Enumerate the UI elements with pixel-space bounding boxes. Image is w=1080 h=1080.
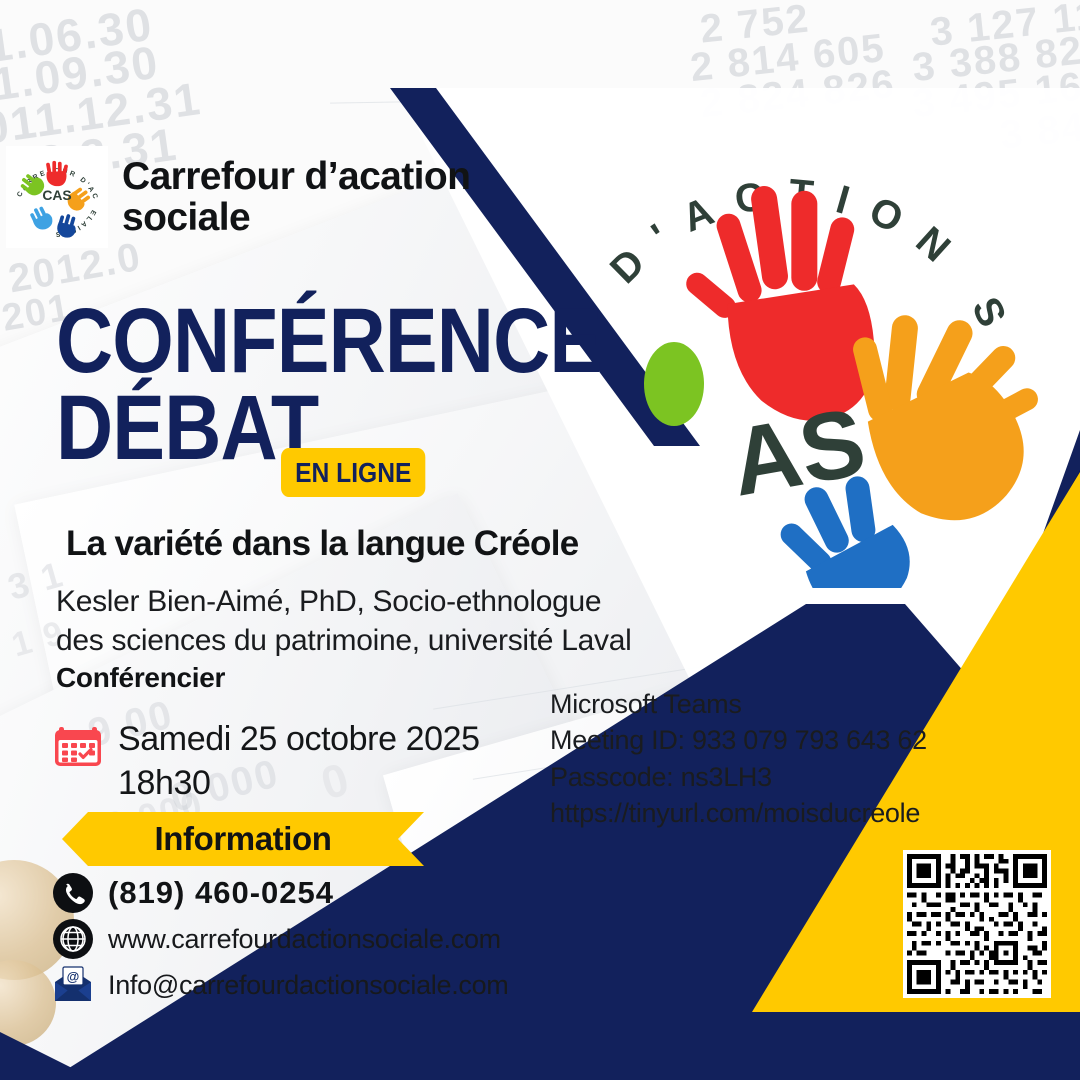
svg-text:@: @ bbox=[67, 969, 80, 984]
meeting-url[interactable]: https://tinyurl.com/moisducreole bbox=[550, 795, 927, 831]
speaker-affiliation-line: des sciences du patrimoine, université L… bbox=[56, 621, 631, 660]
phone-number: (819) 460-0254 bbox=[108, 875, 334, 911]
qr-code[interactable] bbox=[903, 850, 1051, 998]
headline-line-1: CONFÉRENCE bbox=[56, 298, 601, 385]
brand-header: CARREFOUR D'ACTION ELAICOS bbox=[6, 146, 492, 248]
meeting-platform: Microsoft Teams bbox=[550, 686, 927, 722]
globe-icon bbox=[52, 918, 94, 960]
event-date-text: Samedi 25 octobre 2025 18h30 bbox=[118, 718, 480, 805]
phone-icon bbox=[52, 872, 94, 914]
speaker-name-line: Kesler Bien-Aimé, PhD, Socio-ethnologue bbox=[56, 582, 631, 621]
email-address: Info@carrefourdactionsociale.com bbox=[108, 970, 509, 1001]
event-date: Samedi 25 octobre 2025 bbox=[118, 718, 480, 762]
contact-row-website[interactable]: www.carrefourdactionsociale.com bbox=[52, 918, 509, 960]
online-badge: EN LIGNE bbox=[281, 448, 426, 497]
logo-center-label: CAS bbox=[42, 187, 71, 203]
poster-canvas: 1.06.30 1.09.30 011.12.31 2.3.31 2012.0 … bbox=[0, 0, 1080, 1080]
meeting-passcode: Passcode: ns3LH3 bbox=[550, 759, 927, 795]
online-badge-label: EN LIGNE bbox=[295, 457, 411, 488]
email-icon: @ bbox=[52, 964, 94, 1006]
meeting-info-block: Microsoft Teams Meeting ID: 933 079 793 … bbox=[550, 686, 927, 832]
event-datetime: Samedi 25 octobre 2025 18h30 bbox=[52, 718, 480, 805]
contact-row-phone[interactable]: (819) 460-0254 bbox=[52, 872, 509, 914]
meeting-id: Meeting ID: 933 079 793 643 62 bbox=[550, 722, 927, 758]
information-banner: Information bbox=[62, 812, 424, 866]
calendar-icon bbox=[52, 718, 104, 770]
cas-logo-icon: CARREFOUR D'ACTION ELAICOS bbox=[6, 146, 108, 248]
speaker-block: Kesler Bien-Aimé, PhD, Socio-ethnologue … bbox=[56, 582, 631, 694]
organization-name: Carrefour d’acation sociale bbox=[122, 156, 492, 239]
conference-subject: La variété dans la langue Créole bbox=[66, 524, 579, 564]
contact-row-email[interactable]: @ Info@carrefourdactionsociale.com bbox=[52, 964, 509, 1006]
headline-block: CONFÉRENCE DÉBAT bbox=[56, 298, 690, 473]
website-url: www.carrefourdactionsociale.com bbox=[108, 924, 501, 955]
speaker-role-label: Conférencier bbox=[56, 662, 631, 694]
emblem-center-label: AS bbox=[723, 388, 873, 517]
contact-list: (819) 460-0254 www.carrefourdactionsoci bbox=[52, 872, 509, 1006]
event-time: 18h30 bbox=[118, 762, 480, 806]
information-banner-label: Information bbox=[154, 820, 331, 858]
